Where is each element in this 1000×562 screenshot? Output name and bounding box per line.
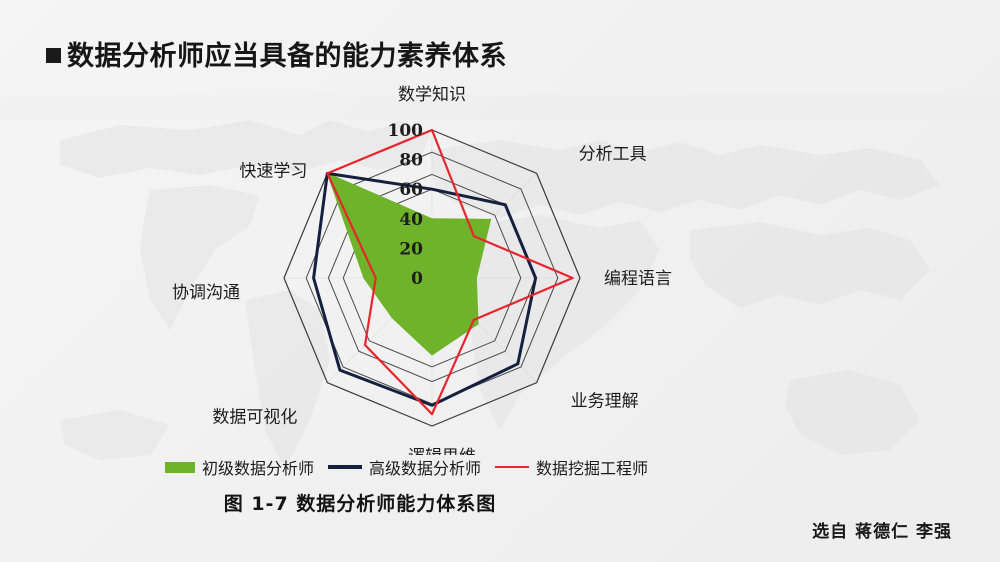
radar-tick-label: 80 xyxy=(399,151,423,171)
legend-label: 初级数据分析师 xyxy=(202,455,314,479)
figure-caption: 图 1-7 数据分析师能力体系图 xyxy=(0,489,720,516)
legend-swatch-fill xyxy=(165,462,195,473)
legend-label: 高级数据分析师 xyxy=(369,455,481,479)
legend-item[interactable]: 数据挖掘工程师 xyxy=(495,455,648,479)
radar-chart-svg: 020406080100 数学知识分析工具编程语言业务理解逻辑思维数据可视化协调… xyxy=(140,85,720,455)
legend-label: 数据挖掘工程师 xyxy=(536,455,648,479)
radar-category-label: 快速学习 xyxy=(239,161,307,181)
radar-category-label: 数学知识 xyxy=(398,85,466,105)
radar-tick-label: 100 xyxy=(388,121,424,141)
radar-category-label: 数据可视化 xyxy=(212,408,297,428)
radar-tick-label: 60 xyxy=(399,180,423,200)
radar-category-label: 逻辑思维 xyxy=(408,447,476,455)
radar-series-polygon xyxy=(327,173,490,355)
page-title: 数据分析师应当具备的能力素养体系 xyxy=(46,34,507,73)
slide-canvas: 数据分析师应当具备的能力素养体系 020406080100 数学知识分析工具编程… xyxy=(0,0,1000,562)
legend-swatch-line xyxy=(328,465,362,469)
radar-category-label: 协调沟通 xyxy=(172,283,240,303)
title-bullet-icon xyxy=(46,48,61,63)
radar-category-label: 分析工具 xyxy=(579,144,647,164)
source-credit: 选自 蒋德仁 李强 xyxy=(812,517,952,542)
radar-tick-label: 20 xyxy=(399,239,423,259)
title-text: 数据分析师应当具备的能力素养体系 xyxy=(67,34,507,73)
legend-item[interactable]: 高级数据分析师 xyxy=(328,455,481,479)
radar-category-label: 业务理解 xyxy=(571,392,639,412)
legend-item[interactable]: 初级数据分析师 xyxy=(165,455,314,479)
radar-tick-label: 0 xyxy=(411,269,423,289)
legend-swatch-line xyxy=(495,466,529,468)
radar-tick-label: 40 xyxy=(399,210,423,230)
radar-chart: 020406080100 数学知识分析工具编程语言业务理解逻辑思维数据可视化协调… xyxy=(140,85,720,455)
radar-category-label: 编程语言 xyxy=(604,269,672,289)
chart-legend: 初级数据分析师 高级数据分析师 数据挖掘工程师 xyxy=(165,455,648,479)
